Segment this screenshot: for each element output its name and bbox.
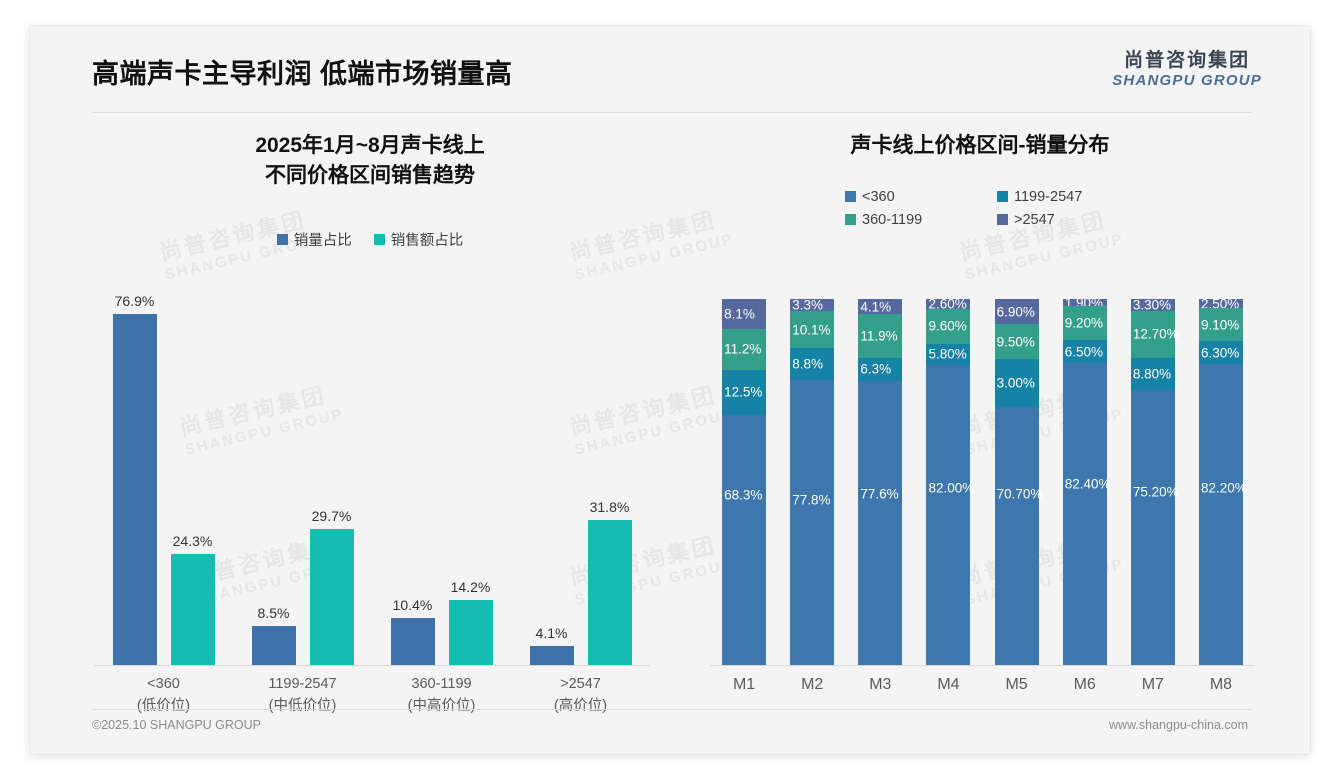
legend-label: <360	[862, 189, 895, 205]
stacked-bar: 3.30% 12.70% 8.80% 75.20%	[1131, 299, 1175, 665]
logo-chinese-text: 尚普咨询集团	[1112, 50, 1262, 72]
segment-tier-midlow[interactable]: 9.50%	[995, 324, 1039, 359]
segment-value-label: 82.00%	[928, 480, 974, 495]
segment-tier-high[interactable]: 2.50%	[1199, 299, 1243, 308]
legend-item-volume-share[interactable]: 销量占比	[277, 229, 352, 250]
bar-revenue[interactable]	[449, 600, 493, 665]
stacked-column: 8.1% 11.2% 12.5% 68.3%	[710, 299, 778, 665]
bar-wrapper: 8.5%	[252, 626, 296, 665]
segment-tier-midhigh[interactable]: 3.00%	[995, 359, 1039, 407]
segment-tier-midhigh[interactable]: 6.50%	[1063, 340, 1107, 364]
stacked-column: 2.60% 9.60% 5.80% 82.00%	[914, 299, 982, 665]
segment-tier-midlow[interactable]: 9.10%	[1199, 308, 1243, 341]
segment-tier-low[interactable]: 77.6%	[858, 381, 902, 665]
x-axis-labels-left: <360 (低价位) 1199-2547 (中低价位) 360-1199 (中高…	[94, 674, 650, 718]
legend-swatch-icon	[374, 234, 385, 245]
segment-tier-midlow[interactable]: 11.9%	[858, 314, 902, 358]
bar-wrapper: 4.1%	[530, 646, 574, 665]
segment-value-label: 11.9%	[860, 328, 897, 343]
segment-tier-high[interactable]: 6.90%	[995, 299, 1039, 324]
segment-tier-low[interactable]: 77.8%	[790, 380, 834, 665]
stacked-bar: 8.1% 11.2% 12.5% 68.3%	[722, 299, 766, 665]
bar-value-label: 76.9%	[115, 293, 155, 309]
segment-value-label: 6.30%	[1201, 345, 1239, 360]
stacked-bar-columns: 8.1% 11.2% 12.5% 68.3%	[710, 299, 1255, 665]
stacked-bar: 6.90% 9.50% 3.00% 70.70%	[995, 299, 1039, 665]
x-axis-label: <360 (低价位)	[94, 674, 233, 718]
segment-tier-midlow[interactable]: 10.1%	[790, 311, 834, 348]
segment-value-label: 8.80%	[1133, 366, 1171, 381]
chart-panel-sales-trend: 2025年1月~8月声卡线上 不同价格区间销售趋势 销量占比 销售额占比 76.…	[70, 131, 670, 701]
segment-tier-midhigh[interactable]: 6.30%	[1199, 341, 1243, 364]
x-axis-label-main: >2547	[511, 674, 650, 696]
stacked-bar: 2.50% 9.10% 6.30% 82.20%	[1199, 299, 1243, 665]
segment-value-label: 68.3%	[724, 488, 762, 503]
legend-swatch-icon	[997, 191, 1008, 202]
segment-value-label: 12.5%	[724, 385, 762, 400]
legend-label: 销量占比	[294, 229, 352, 250]
brand-logo: 尚普咨询集团 SHANGPU GROUP	[1112, 50, 1262, 90]
legend-item-revenue-share[interactable]: 销售额占比	[374, 229, 464, 250]
segment-tier-low[interactable]: 82.00%	[926, 365, 970, 665]
segment-tier-low[interactable]: 68.3%	[722, 415, 766, 665]
legend-right: <360 1199-2547 360-1199 >2547	[845, 189, 1115, 228]
stacked-column: 3.3% 10.1% 8.8% 77.8%	[778, 299, 846, 665]
segment-value-label: 8.8%	[792, 357, 823, 372]
bar-value-label: 24.3%	[173, 533, 213, 549]
segment-value-label: 5.80%	[928, 347, 966, 362]
legend-swatch-icon	[845, 214, 856, 225]
segment-value-label: 70.70%	[997, 487, 1043, 502]
stacked-column: 3.30% 12.70% 8.80% 75.20%	[1119, 299, 1187, 665]
x-axis-line-left	[94, 665, 650, 666]
header-divider	[92, 112, 1252, 113]
x-axis-label-sub: (高价位)	[511, 696, 650, 718]
bar-group: 76.9% 24.3%	[94, 296, 233, 665]
stacked-column: 6.90% 9.50% 3.00% 70.70%	[983, 299, 1051, 665]
segment-tier-midlow[interactable]: 9.20%	[1063, 306, 1107, 340]
chart-title-right: 声卡线上价格区间-销量分布	[680, 131, 1280, 161]
chart-title-left-line2: 不同价格区间销售趋势	[70, 161, 670, 191]
segment-value-label: 82.40%	[1065, 477, 1111, 492]
footer-divider	[92, 709, 1252, 710]
segment-tier-low[interactable]: 70.70%	[995, 407, 1039, 666]
page-title: 高端声卡主导利润 低端市场销量高	[92, 52, 513, 91]
segment-tier-midhigh[interactable]: 5.80%	[926, 344, 970, 365]
legend-swatch-icon	[277, 234, 288, 245]
segment-value-label: 6.90%	[997, 305, 1035, 320]
bar-group: 4.1% 31.8%	[511, 296, 650, 665]
segment-value-label: 8.1%	[724, 307, 755, 322]
x-axis-line-right	[710, 665, 1255, 666]
bar-group: 10.4% 14.2%	[372, 296, 511, 665]
x-axis-labels-right: M1 M2 M3 M4 M5 M6 M7 M8	[710, 676, 1255, 694]
legend-label: 销售额占比	[391, 229, 464, 250]
bar-volume[interactable]	[391, 618, 435, 665]
legend-item-tier-low[interactable]: <360	[845, 189, 963, 205]
segment-tier-high[interactable]: 3.30%	[1131, 299, 1175, 311]
x-axis-label-sub: (低价位)	[94, 696, 233, 718]
x-axis-label: 360-1199 (中高价位)	[372, 674, 511, 718]
bar-group: 8.5% 29.7%	[233, 296, 372, 665]
bar-groups: 76.9% 24.3% 8.5% 29.7%	[94, 296, 650, 665]
bar-volume[interactable]	[113, 314, 157, 665]
bar-value-label: 14.2%	[451, 579, 491, 595]
x-axis-label-main: 1199-2547	[233, 674, 372, 696]
segment-tier-high[interactable]: 1.90%	[1063, 299, 1107, 306]
plot-area-right: 8.1% 11.2% 12.5% 68.3%	[710, 299, 1255, 666]
stacked-column: 2.50% 9.10% 6.30% 82.20%	[1187, 299, 1255, 665]
segment-value-label: 6.3%	[860, 362, 891, 377]
segment-value-label: 9.50%	[997, 334, 1035, 349]
legend-item-tier-midhigh[interactable]: 1199-2547	[997, 189, 1115, 205]
legend-swatch-icon	[997, 214, 1008, 225]
bar-volume[interactable]	[252, 626, 296, 665]
bar-revenue[interactable]	[588, 520, 632, 665]
segment-value-label: 9.20%	[1065, 315, 1103, 330]
x-axis-label-main: <360	[94, 674, 233, 696]
x-axis-label: M3	[846, 676, 914, 694]
bar-wrapper: 31.8%	[588, 520, 632, 665]
bar-volume[interactable]	[530, 646, 574, 665]
segment-value-label: 12.70%	[1133, 327, 1179, 342]
x-axis-label: M4	[914, 676, 982, 694]
segment-tier-midhigh[interactable]: 8.8%	[790, 348, 834, 380]
x-axis-label: >2547 (高价位)	[511, 674, 650, 718]
segment-tier-midlow[interactable]: 12.70%	[1131, 311, 1175, 357]
bar-wrapper: 29.7%	[310, 529, 354, 665]
chart-title-left: 2025年1月~8月声卡线上 不同价格区间销售趋势	[70, 131, 670, 191]
slide-canvas: 尚普咨询集团 SHANGPU GROUP 尚普咨询集团 SHANGPU GROU…	[30, 26, 1310, 754]
bar-wrapper: 10.4%	[391, 618, 435, 665]
segment-tier-high[interactable]: 4.1%	[858, 299, 902, 314]
segment-value-label: 10.1%	[792, 322, 830, 337]
segment-tier-high[interactable]: 3.3%	[790, 299, 834, 311]
bar-wrapper: 24.3%	[171, 554, 215, 665]
slide-header: 高端声卡主导利润 低端市场销量高 尚普咨询集团 SHANGPU GROUP	[30, 26, 1310, 119]
bar-wrapper: 76.9%	[113, 314, 157, 665]
footer-copyright: ©2025.10 SHANGPU GROUP	[92, 718, 261, 732]
footer-website[interactable]: www.shangpu-china.com	[1109, 718, 1248, 732]
bar-revenue[interactable]	[171, 554, 215, 665]
segment-value-label: 77.8%	[792, 492, 830, 507]
segment-value-label: 3.00%	[997, 375, 1035, 390]
legend-label: 1199-2547	[1014, 189, 1082, 205]
segment-tier-low[interactable]: 75.20%	[1131, 390, 1175, 665]
segment-tier-midhigh[interactable]: 12.5%	[722, 370, 766, 416]
x-axis-label: M7	[1119, 676, 1187, 694]
stacked-bar: 1.90% 9.20% 6.50% 82.40%	[1063, 299, 1107, 665]
bar-value-label: 29.7%	[312, 508, 352, 524]
segment-value-label: 11.2%	[724, 342, 761, 357]
x-axis-label: M6	[1051, 676, 1119, 694]
segment-tier-midlow[interactable]: 11.2%	[722, 329, 766, 370]
segment-tier-midlow[interactable]: 9.60%	[926, 309, 970, 344]
stacked-bar: 2.60% 9.60% 5.80% 82.00%	[926, 299, 970, 665]
bar-value-label: 31.8%	[590, 499, 630, 515]
legend-item-tier-high[interactable]: >2547	[997, 212, 1115, 228]
stacked-column: 4.1% 11.9% 6.3% 77.6%	[846, 299, 914, 665]
segment-value-label: 9.10%	[1201, 317, 1239, 332]
x-axis-label: M2	[778, 676, 846, 694]
plot-area-left: 76.9% 24.3% 8.5% 29.7%	[94, 296, 650, 666]
segment-value-label: 4.1%	[860, 299, 891, 314]
segment-tier-midhigh[interactable]: 8.80%	[1131, 358, 1175, 390]
legend-label: 360-1199	[862, 212, 922, 228]
bar-revenue[interactable]	[310, 529, 354, 665]
legend-item-tier-midlow[interactable]: 360-1199	[845, 212, 963, 228]
legend-label: >2547	[1014, 212, 1055, 228]
segment-tier-high[interactable]: 8.1%	[722, 299, 766, 329]
x-axis-label: M1	[710, 676, 778, 694]
stacked-column: 1.90% 9.20% 6.50% 82.40%	[1051, 299, 1119, 665]
bar-wrapper: 14.2%	[449, 600, 493, 665]
x-axis-label-main: 360-1199	[372, 674, 511, 696]
chart-panel-price-distribution: 声卡线上价格区间-销量分布 <360 1199-2547 360-1199 >2…	[680, 131, 1280, 701]
bar-value-label: 8.5%	[258, 605, 290, 621]
segment-tier-low[interactable]: 82.40%	[1063, 363, 1107, 665]
x-axis-label-sub: (中低价位)	[233, 696, 372, 718]
segment-value-label: 77.6%	[860, 487, 898, 502]
segment-value-label: 75.20%	[1133, 484, 1179, 499]
stacked-bar: 4.1% 11.9% 6.3% 77.6%	[858, 299, 902, 665]
x-axis-label: 1199-2547 (中低价位)	[233, 674, 372, 718]
segment-tier-midhigh[interactable]: 6.3%	[858, 358, 902, 381]
x-axis-label-sub: (中高价位)	[372, 696, 511, 718]
segment-value-label: 9.60%	[928, 319, 966, 334]
stacked-bar: 3.3% 10.1% 8.8% 77.8%	[790, 299, 834, 665]
x-axis-label: M8	[1187, 676, 1255, 694]
x-axis-label: M5	[983, 676, 1051, 694]
chart-title-left-line1: 2025年1月~8月声卡线上	[70, 131, 670, 161]
bar-value-label: 10.4%	[393, 597, 433, 613]
legend-left: 销量占比 销售额占比	[70, 229, 670, 250]
segment-value-label: 6.50%	[1065, 344, 1103, 359]
segment-value-label: 82.20%	[1201, 480, 1247, 495]
logo-english-text: SHANGPU GROUP	[1112, 72, 1262, 90]
segment-tier-high[interactable]: 2.60%	[926, 299, 970, 309]
segment-tier-low[interactable]: 82.20%	[1199, 364, 1243, 665]
bar-value-label: 4.1%	[536, 625, 568, 641]
legend-swatch-icon	[845, 191, 856, 202]
